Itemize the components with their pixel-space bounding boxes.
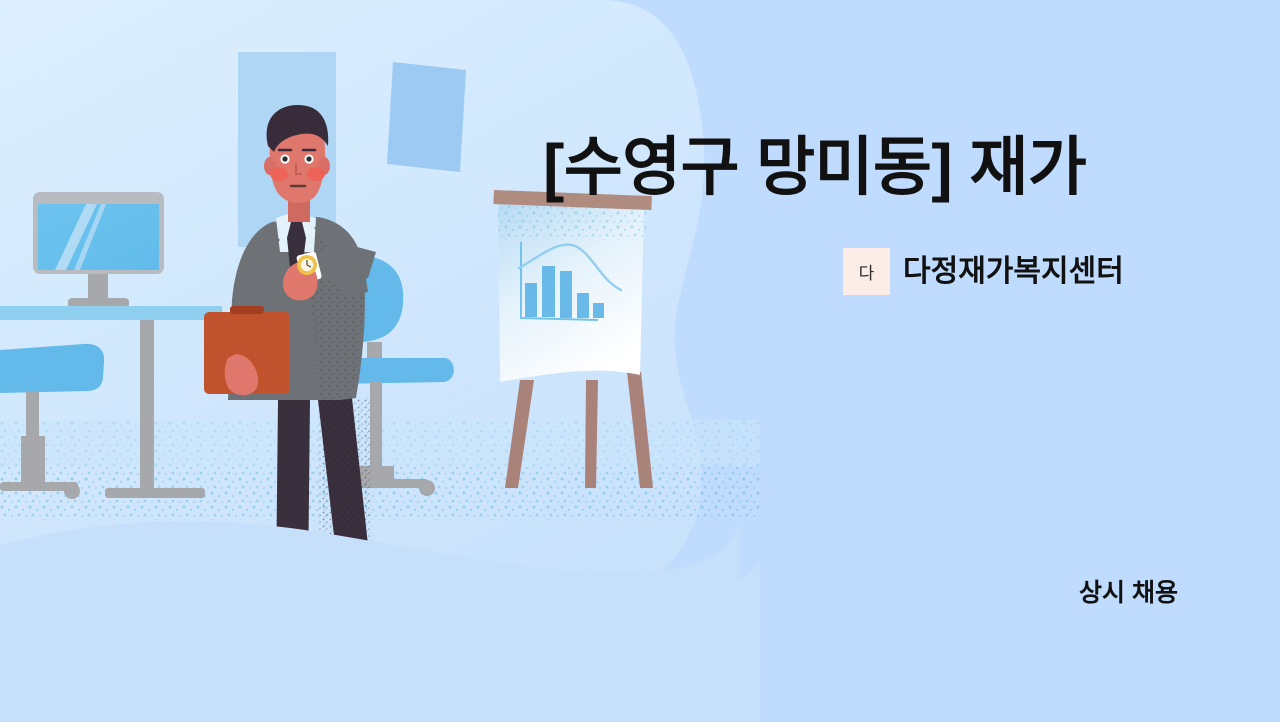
job-posting-banner: [수영구 망미동] 재가 다 다정재가복지센터 상시 채용	[0, 0, 1280, 722]
cheek-left	[270, 167, 288, 181]
trouser-left-leg	[276, 400, 310, 586]
company-row[interactable]: 다 다정재가복지센터	[843, 248, 1124, 295]
desktop-monitor	[33, 192, 164, 308]
wristwatch	[297, 255, 317, 275]
foreground-floor-blob	[0, 560, 760, 722]
page-title: [수영구 망미동] 재가	[543, 133, 1243, 202]
company-logo: 다	[843, 248, 890, 295]
office-illustration	[0, 0, 760, 722]
employment-type-badge: 상시 채용	[1058, 573, 1178, 609]
wall-poster-small	[387, 62, 466, 172]
easel-leg-center	[585, 380, 598, 488]
cheek-right	[307, 167, 325, 181]
company-name: 다정재가복지센터	[903, 257, 1124, 287]
